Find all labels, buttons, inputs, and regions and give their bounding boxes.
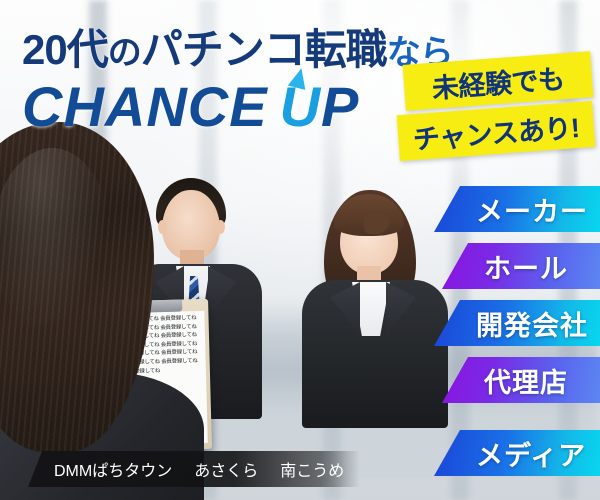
category-label-media: メディア [476, 434, 586, 473]
category-item-media[interactable]: メディア [434, 430, 600, 476]
credit-person-2: 南こうめ [280, 457, 344, 481]
category-item-maker[interactable]: メーカー [434, 186, 600, 232]
category-item-agency[interactable]: 代理店 [442, 357, 600, 403]
category-item-development-company[interactable]: 開発会社 [434, 300, 600, 346]
category-label-development-company: 開発会社 [476, 304, 588, 343]
advertisement-banner[interactable]: 会員登録してね 会員登録してね 会員登録してね 会員登録してね 会員登録してね … [0, 0, 600, 500]
category-label-hall: ホール [484, 247, 568, 286]
category-label-maker: メーカー [476, 190, 588, 229]
credit-site-name: DMMぱちタウン [54, 457, 172, 481]
credit-person-1: あさくら [194, 457, 258, 481]
category-item-hall[interactable]: ホール [442, 243, 600, 289]
credit-bar: DMMぱちタウン あさくら 南こうめ [28, 451, 360, 487]
category-label-agency: 代理店 [484, 361, 568, 400]
category-banner-list: メーカー ホール 開発会社 代理店 メディア [0, 0, 600, 500]
